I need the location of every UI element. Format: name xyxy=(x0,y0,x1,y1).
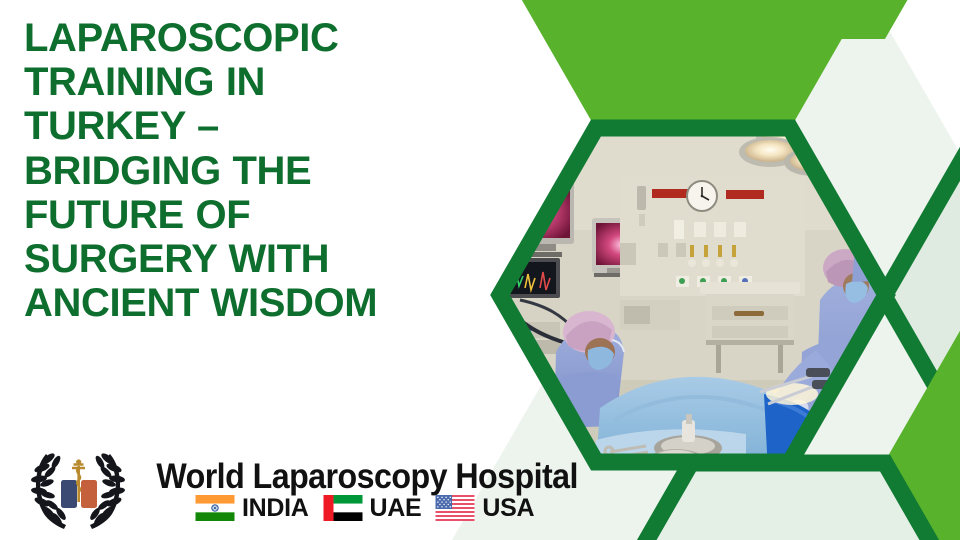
page-title: LAPAROSCOPICTRAINING INTURKEY –BRIDGING … xyxy=(24,16,454,325)
headline-line: SURGERY WITH xyxy=(24,237,329,281)
wall-clock xyxy=(687,181,717,211)
hospital-name: World Laparoscopy Hospital xyxy=(156,459,578,494)
headline-line: ANCIENT WISDOM xyxy=(24,281,377,325)
laurel-wreath-caduceus-emblem xyxy=(26,438,130,538)
logo-lockup[interactable]: World Laparoscopy Hospital xyxy=(26,438,596,538)
headline-line: BRIDGING THE xyxy=(24,149,311,193)
country-row: INDIA UAE xyxy=(193,495,541,521)
country-label-india: INDIA xyxy=(242,496,309,521)
country-label-usa: USA xyxy=(482,496,534,521)
country-label-uae: UAE xyxy=(370,496,422,521)
headline-line: FUTURE OF xyxy=(24,193,250,237)
logo-text-column: World Laparoscopy Hospital xyxy=(138,455,596,521)
uae-flag-icon xyxy=(321,495,365,521)
headline-line: TRAINING IN xyxy=(24,60,265,104)
india-flag-icon xyxy=(193,495,237,521)
headline-line: TURKEY – xyxy=(24,104,219,148)
title-block: LAPAROSCOPICTRAINING INTURKEY –BRIDGING … xyxy=(24,16,454,325)
banner-canvas: LAPAROSCOPICTRAINING INTURKEY –BRIDGING … xyxy=(0,0,960,540)
headline-line: LAPAROSCOPIC xyxy=(24,16,338,60)
usa-flag-icon xyxy=(433,495,477,521)
